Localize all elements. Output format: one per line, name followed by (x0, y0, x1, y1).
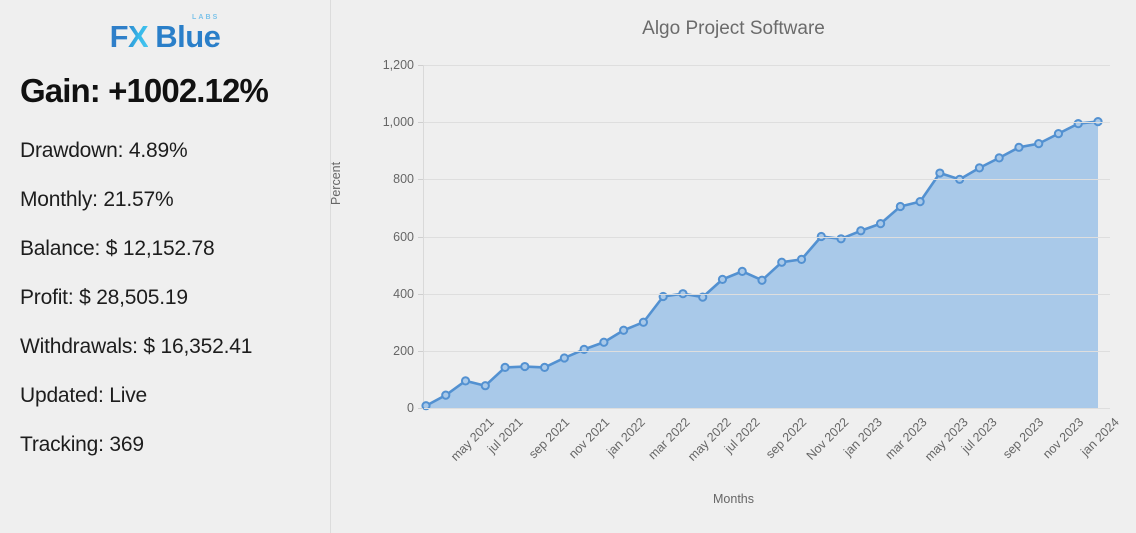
gridline (424, 237, 1110, 238)
chart-data-point[interactable] (1055, 130, 1062, 137)
y-tick-label: 200 (393, 344, 414, 358)
y-tick-label: 800 (393, 172, 414, 186)
drawdown-stat: Drawdown: 4.89% (20, 139, 310, 163)
x-tick-label: mar 2022 (645, 415, 692, 462)
chart-data-point[interactable] (581, 346, 588, 353)
x-tick-label: sep 2023 (1000, 415, 1046, 461)
chart-data-point[interactable] (640, 319, 647, 326)
chart-data-point[interactable] (1075, 120, 1082, 127)
gridline (424, 351, 1110, 352)
y-tick-label: 1,200 (383, 58, 414, 72)
y-tick-mark (418, 179, 423, 180)
chart-data-point[interactable] (719, 276, 726, 283)
chart-data-point[interactable] (462, 377, 469, 384)
chart-data-point[interactable] (620, 327, 627, 334)
logo-blue-text: Blue (155, 19, 220, 54)
chart-data-point[interactable] (482, 382, 489, 389)
gridline (424, 65, 1110, 66)
gridline (424, 294, 1110, 295)
chart-data-point[interactable] (897, 203, 904, 210)
updated-stat: Updated: Live (20, 384, 310, 408)
chart-data-point[interactable] (541, 364, 548, 371)
logo-fx-text: FX (110, 19, 149, 54)
y-axis: Percent 02004006008001,0001,200 (331, 0, 414, 533)
y-tick-mark (418, 408, 423, 409)
chart-data-point[interactable] (442, 392, 449, 399)
chart-data-point[interactable] (877, 220, 884, 227)
y-tick-label: 600 (393, 230, 414, 244)
chart-data-point[interactable] (1015, 144, 1022, 151)
chart-data-point[interactable] (996, 154, 1003, 161)
brand-header: FXBlue LABS (20, 14, 310, 58)
chart-data-point[interactable] (778, 259, 785, 266)
gain-stat: Gain: +1002.12% (20, 72, 310, 110)
monthly-stat: Monthly: 21.57% (20, 188, 310, 212)
chart-data-point[interactable] (857, 227, 864, 234)
x-tick-label: sep 2022 (763, 415, 809, 461)
x-axis-title: Months (331, 492, 1136, 506)
withdrawals-stat: Withdrawals: $ 16,352.41 (20, 335, 310, 359)
y-tick-mark (418, 294, 423, 295)
chart-data-point[interactable] (739, 268, 746, 275)
gridline (424, 408, 1110, 409)
fxblue-performance-widget: FXBlue LABS Gain: +1002.12% Drawdown: 4.… (0, 0, 1136, 533)
y-tick-label: 0 (407, 401, 414, 415)
balance-stat: Balance: $ 12,152.78 (20, 237, 310, 261)
y-axis-title: Percent (329, 162, 343, 205)
chart-panel: Algo Project Software Percent 0200400600… (331, 0, 1136, 533)
chart-data-point[interactable] (561, 354, 568, 361)
chart-data-point[interactable] (521, 363, 528, 370)
y-tick-mark (418, 122, 423, 123)
chart-data-point[interactable] (600, 339, 607, 346)
y-tick-mark (418, 65, 423, 66)
x-tick-label: Nov 2022 (803, 415, 851, 463)
chart-data-point[interactable] (798, 256, 805, 263)
chart-data-point[interactable] (758, 277, 765, 284)
profit-stat: Profit: $ 28,505.19 (20, 286, 310, 310)
chart-data-point[interactable] (1035, 140, 1042, 147)
x-tick-label: jan 2022 (604, 415, 648, 459)
x-tick-label: jan 2024 (1079, 415, 1123, 459)
gridline (424, 179, 1110, 180)
chart-data-point[interactable] (501, 364, 508, 371)
logo-labs-text: LABS (192, 14, 219, 21)
fxblue-logo[interactable]: FXBlue LABS (110, 21, 221, 52)
x-tick-label: nov 2021 (566, 415, 612, 461)
tracking-stat: Tracking: 369 (20, 433, 310, 457)
x-tick-label: nov 2023 (1040, 415, 1086, 461)
chart-title: Algo Project Software (331, 18, 1136, 40)
y-tick-label: 1,000 (383, 115, 414, 129)
gridline (424, 122, 1110, 123)
x-tick-label: sep 2021 (526, 415, 572, 461)
chart-data-point[interactable] (976, 164, 983, 171)
y-tick-mark (418, 351, 423, 352)
plot-area (424, 65, 1110, 408)
chart-data-point[interactable] (936, 169, 943, 176)
chart-data-point[interactable] (917, 198, 924, 205)
stats-sidebar: FXBlue LABS Gain: +1002.12% Drawdown: 4.… (0, 0, 331, 533)
y-tick-label: 400 (393, 287, 414, 301)
y-tick-mark (418, 237, 423, 238)
